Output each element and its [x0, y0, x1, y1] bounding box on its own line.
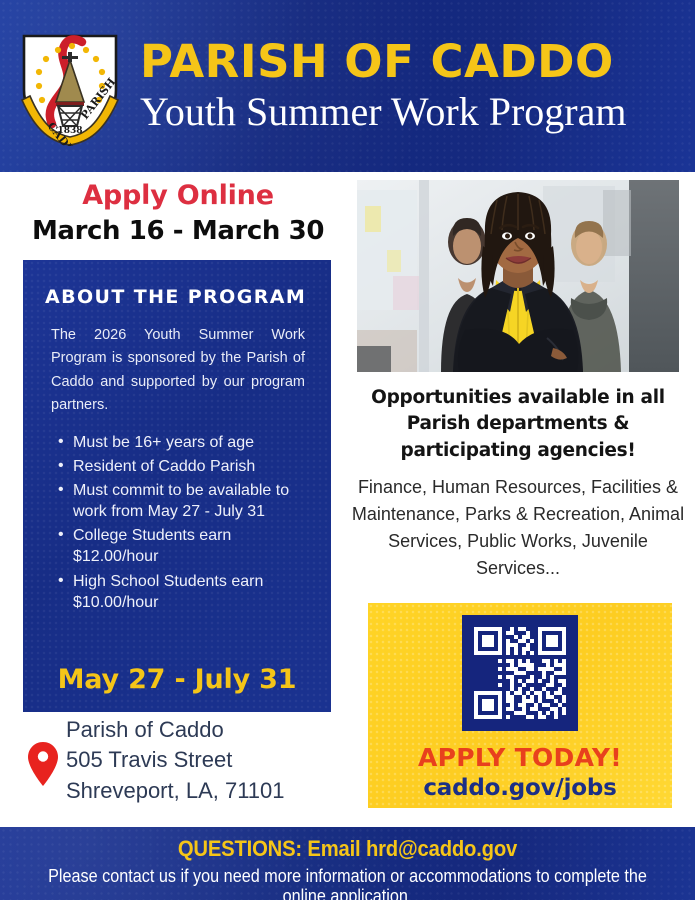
- address-line-3: Shreveport, LA, 71101: [66, 776, 285, 806]
- about-the-program-panel: ABOUT THE PROGRAM The 2026 Youth Summer …: [23, 260, 331, 712]
- list-item: Must be 16+ years of age: [73, 432, 313, 453]
- footer-banner: QUESTIONS: Email hrd@caddo.gov Please co…: [0, 827, 695, 900]
- page-subtitle: Youth Summer Work Program: [140, 90, 626, 135]
- application-window-dates: March 16 - March 30: [13, 218, 343, 245]
- departments-list: Finance, Human Resources, Facilities & M…: [350, 474, 686, 582]
- about-heading: ABOUT THE PROGRAM: [45, 286, 313, 308]
- questions-email-line[interactable]: QUESTIONS: Email hrd@caddo.gov: [28, 836, 667, 862]
- apply-cta-panel[interactable]: APPLY TODAY! caddo.gov/jobs: [368, 603, 672, 808]
- eligibility-list: Must be 16+ years of age Resident of Cad…: [41, 432, 313, 613]
- page-title: PARISH OF CADDO: [140, 39, 626, 84]
- accommodations-note: Please contact us if you need more infor…: [35, 866, 661, 900]
- address-block: Parish of Caddo 505 Travis Street Shreve…: [26, 715, 336, 806]
- header-banner: CADDO PARISH 1838 PARISH OF CADDO Youth …: [0, 0, 695, 172]
- address-line-1: Parish of Caddo: [66, 715, 285, 745]
- list-item: College Students earn $12.00/hour: [73, 525, 313, 567]
- header-title-block: PARISH OF CADDO Youth Summer Work Progra…: [140, 37, 626, 135]
- program-dates-highlight: May 27 - July 31: [23, 664, 331, 695]
- address-lines: Parish of Caddo 505 Travis Street Shreve…: [66, 715, 285, 806]
- location-pin-icon: [26, 740, 60, 788]
- address-line-2: 505 Travis Street: [66, 745, 285, 775]
- qr-code-icon[interactable]: [462, 615, 578, 731]
- apply-today-label: APPLY TODAY!: [368, 743, 672, 772]
- apply-online-heading: Apply Online: [23, 182, 333, 210]
- list-item: Must commit to be available to work from…: [73, 480, 313, 522]
- svg-text:1838: 1838: [57, 126, 82, 136]
- about-paragraph: The 2026 Youth Summer Work Program is sp…: [51, 324, 305, 418]
- program-photo: [357, 180, 679, 372]
- list-item: Resident of Caddo Parish: [73, 456, 313, 477]
- opportunities-heading: Opportunities available in all Parish de…: [352, 385, 684, 464]
- apply-url-link[interactable]: caddo.gov/jobs: [368, 775, 672, 801]
- list-item: High School Students earn $10.00/hour: [73, 571, 313, 613]
- caddo-parish-seal-icon: CADDO PARISH 1838: [14, 28, 126, 146]
